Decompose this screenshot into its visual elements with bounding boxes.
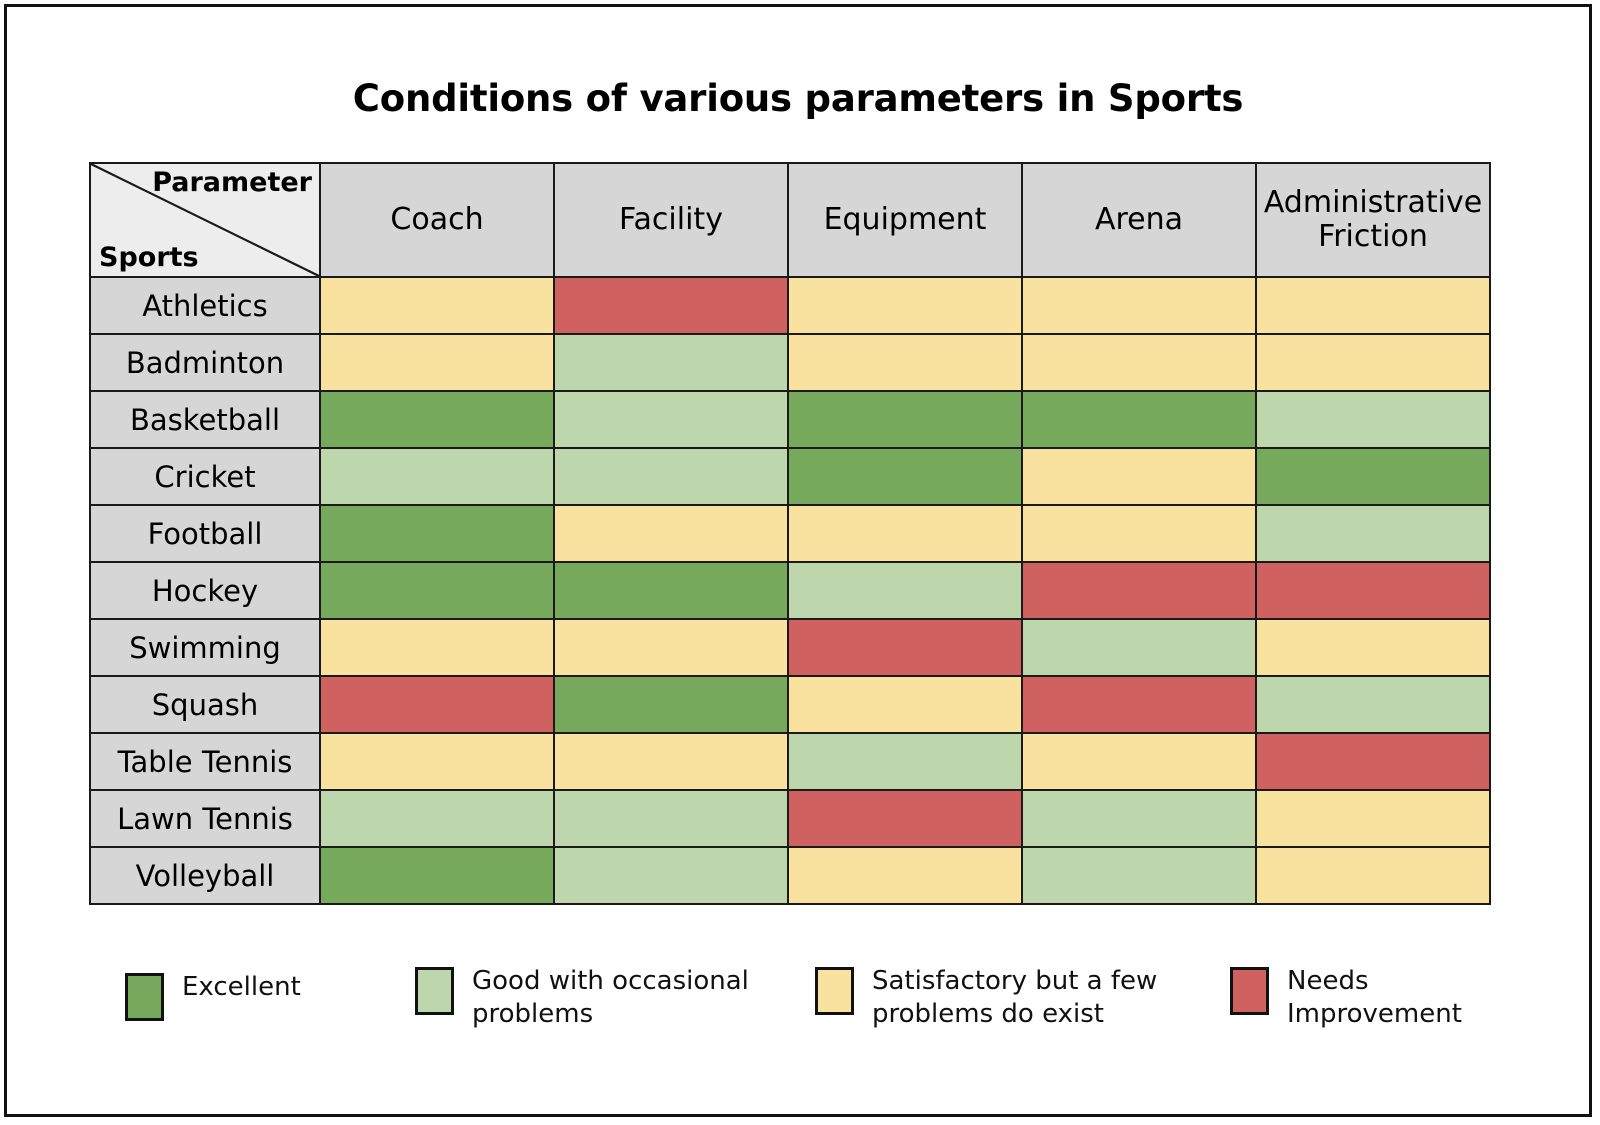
table-row: Hockey [90, 562, 1490, 619]
table-row: Volleyball [90, 847, 1490, 904]
table-row: Basketball [90, 391, 1490, 448]
cell-football-coach [320, 505, 554, 562]
row-header-basketball: Basketball [90, 391, 320, 448]
cell-swimming-arena [1022, 619, 1256, 676]
cell-lawn-tennis-coach [320, 790, 554, 847]
cell-basketball-arena [1022, 391, 1256, 448]
legend-swatch-needs [1230, 967, 1269, 1015]
cell-squash-coach [320, 676, 554, 733]
cell-badminton-equipment [788, 334, 1022, 391]
column-header-equipment: Equipment [788, 163, 1022, 277]
row-header-volleyball: Volleyball [90, 847, 320, 904]
column-header-administrative-friction: Administrative Friction [1256, 163, 1490, 277]
cell-cricket-administrative-friction [1256, 448, 1490, 505]
legend-item-excellent: Excellent [125, 971, 301, 1021]
legend-swatch-good [415, 967, 454, 1015]
row-header-table-tennis: Table Tennis [90, 733, 320, 790]
cell-athletics-equipment [788, 277, 1022, 334]
legend-item-satisfactory: Satisfactory but a few problems do exist [815, 965, 1157, 1032]
cell-volleyball-arena [1022, 847, 1256, 904]
corner-sports-label: Sports [99, 244, 199, 272]
cell-lawn-tennis-administrative-friction [1256, 790, 1490, 847]
conditions-matrix-table: Parameter Sports Coach Facility Equipmen… [89, 162, 1491, 905]
cell-badminton-administrative-friction [1256, 334, 1490, 391]
column-header-coach: Coach [320, 163, 554, 277]
cell-hockey-coach [320, 562, 554, 619]
cell-hockey-administrative-friction [1256, 562, 1490, 619]
cell-table-tennis-facility [554, 733, 788, 790]
table-body: AthleticsBadmintonBasketballCricketFootb… [90, 277, 1490, 904]
cell-volleyball-coach [320, 847, 554, 904]
row-header-football: Football [90, 505, 320, 562]
legend-label-satisfactory: Satisfactory but a few problems do exist [872, 965, 1157, 1032]
cell-squash-administrative-friction [1256, 676, 1490, 733]
table-row: Squash [90, 676, 1490, 733]
cell-cricket-coach [320, 448, 554, 505]
table-row: Lawn Tennis [90, 790, 1490, 847]
legend-item-good: Good with occasional problems [415, 965, 749, 1032]
cell-basketball-equipment [788, 391, 1022, 448]
cell-hockey-facility [554, 562, 788, 619]
table-row: Badminton [90, 334, 1490, 391]
cell-badminton-arena [1022, 334, 1256, 391]
cell-squash-facility [554, 676, 788, 733]
legend-label-excellent: Excellent [182, 971, 301, 1004]
cell-athletics-coach [320, 277, 554, 334]
table-row: Football [90, 505, 1490, 562]
cell-football-facility [554, 505, 788, 562]
table-row: Table Tennis [90, 733, 1490, 790]
cell-cricket-equipment [788, 448, 1022, 505]
row-header-cricket: Cricket [90, 448, 320, 505]
cell-cricket-arena [1022, 448, 1256, 505]
table-row: Athletics [90, 277, 1490, 334]
cell-volleyball-facility [554, 847, 788, 904]
cell-football-equipment [788, 505, 1022, 562]
cell-athletics-administrative-friction [1256, 277, 1490, 334]
table-row: Swimming [90, 619, 1490, 676]
corner-parameter-label: Parameter [152, 169, 312, 197]
cell-table-tennis-equipment [788, 733, 1022, 790]
figure-frame: Conditions of various parameters in Spor… [4, 4, 1592, 1117]
page-title: Conditions of various parameters in Spor… [7, 77, 1589, 120]
cell-squash-arena [1022, 676, 1256, 733]
row-header-squash: Squash [90, 676, 320, 733]
cell-swimming-administrative-friction [1256, 619, 1490, 676]
cell-hockey-arena [1022, 562, 1256, 619]
row-header-hockey: Hockey [90, 562, 320, 619]
table-row: Cricket [90, 448, 1490, 505]
cell-basketball-coach [320, 391, 554, 448]
cell-football-administrative-friction [1256, 505, 1490, 562]
cell-volleyball-administrative-friction [1256, 847, 1490, 904]
legend-swatch-satisfactory [815, 967, 854, 1015]
cell-volleyball-equipment [788, 847, 1022, 904]
cell-squash-equipment [788, 676, 1022, 733]
cell-badminton-facility [554, 334, 788, 391]
row-header-lawn-tennis: Lawn Tennis [90, 790, 320, 847]
cell-swimming-facility [554, 619, 788, 676]
cell-basketball-facility [554, 391, 788, 448]
cell-table-tennis-administrative-friction [1256, 733, 1490, 790]
row-header-athletics: Athletics [90, 277, 320, 334]
cell-cricket-facility [554, 448, 788, 505]
column-header-arena: Arena [1022, 163, 1256, 277]
cell-hockey-equipment [788, 562, 1022, 619]
row-header-badminton: Badminton [90, 334, 320, 391]
legend: ExcellentGood with occasional problemsSa… [125, 965, 1525, 1065]
legend-swatch-excellent [125, 973, 164, 1021]
cell-lawn-tennis-facility [554, 790, 788, 847]
cell-swimming-coach [320, 619, 554, 676]
table-header-row: Parameter Sports Coach Facility Equipmen… [90, 163, 1490, 277]
cell-badminton-coach [320, 334, 554, 391]
cell-basketball-administrative-friction [1256, 391, 1490, 448]
cell-swimming-equipment [788, 619, 1022, 676]
cell-lawn-tennis-equipment [788, 790, 1022, 847]
cell-table-tennis-arena [1022, 733, 1256, 790]
cell-athletics-arena [1022, 277, 1256, 334]
legend-label-needs: Needs Improvement [1287, 965, 1462, 1032]
cell-lawn-tennis-arena [1022, 790, 1256, 847]
legend-item-needs: Needs Improvement [1230, 965, 1462, 1032]
legend-label-good: Good with occasional problems [472, 965, 749, 1032]
cell-football-arena [1022, 505, 1256, 562]
cell-table-tennis-coach [320, 733, 554, 790]
row-header-swimming: Swimming [90, 619, 320, 676]
cell-athletics-facility [554, 277, 788, 334]
corner-axis-cell: Parameter Sports [90, 163, 320, 277]
column-header-facility: Facility [554, 163, 788, 277]
